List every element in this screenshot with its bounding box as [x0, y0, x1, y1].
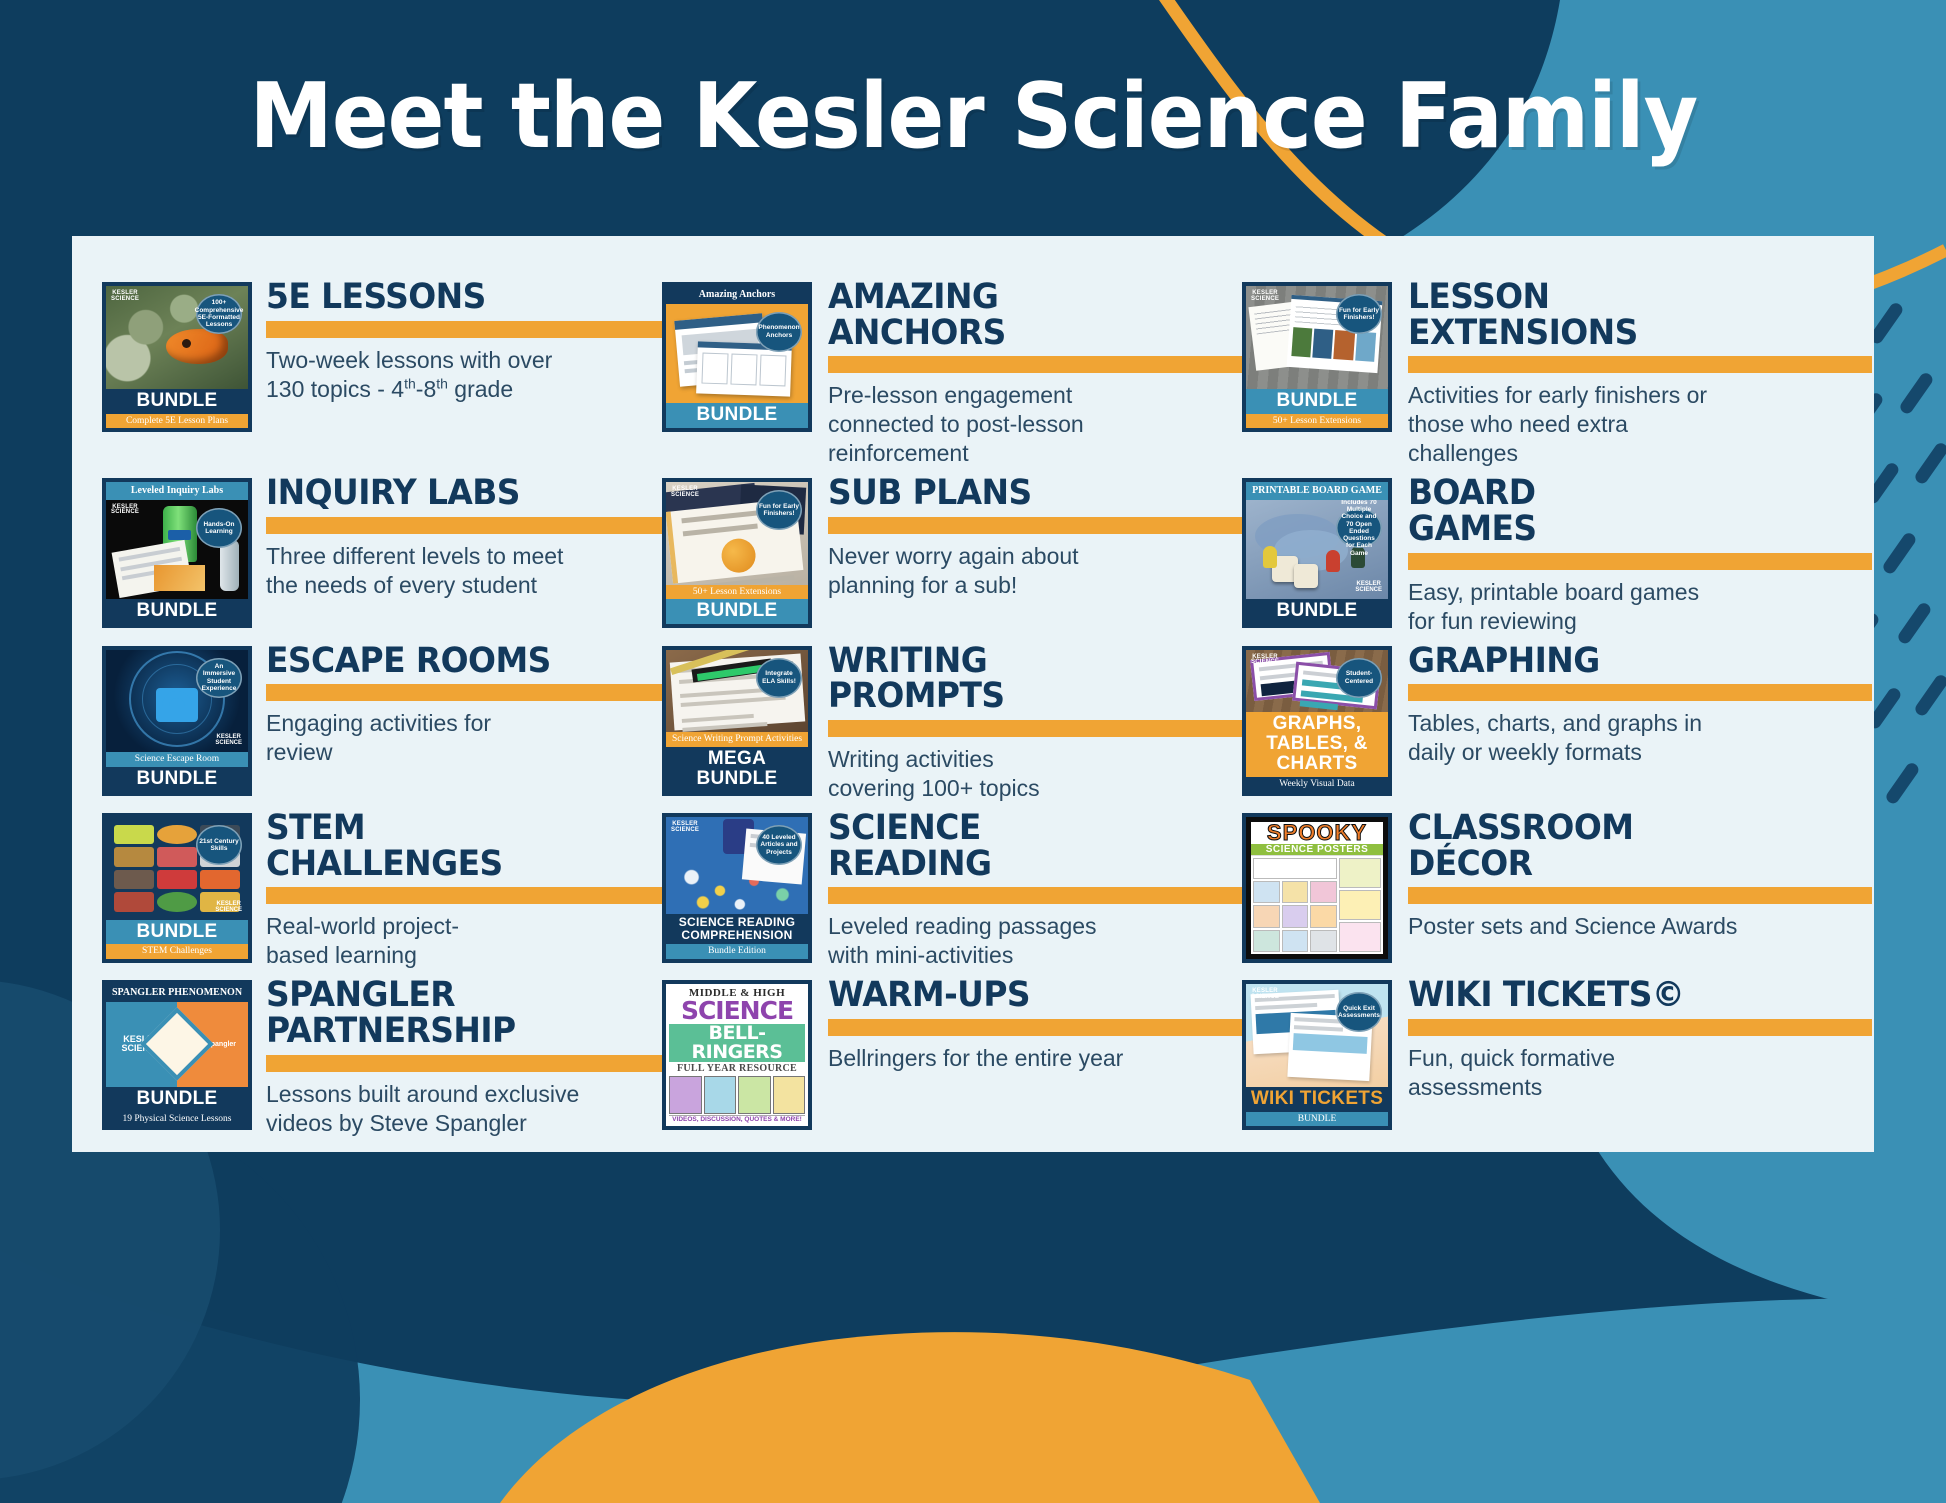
thumb-caption: BUNDLE: [106, 389, 248, 414]
product-title: WRITING PROMPTS: [828, 644, 1217, 715]
thumb-sub-label: BUNDLE: [1246, 1112, 1388, 1126]
product-thumbnail-escape-rooms[interactable]: An Immersive Student Experience KESLERSC…: [102, 646, 252, 796]
thumb-sub-label: Science Writing Prompt Activities: [666, 732, 808, 746]
product-description: Leveled reading passages with mini-activ…: [828, 912, 1242, 970]
product-text-block: SPANGLER PARTNERSHIP Lessons built aroun…: [266, 976, 662, 1137]
product-text-block: AMAZING ANCHORS Pre-lesson engagement co…: [828, 278, 1242, 468]
product-description: Activities for early finishers or those …: [1408, 381, 1872, 468]
product-card-sub-plans[interactable]: Fun for Early Finishers! KESLERSCIENCE 5…: [662, 468, 1242, 635]
kesler-science-logo-icon: KESLERSCIENCE: [215, 735, 242, 746]
orange-divider-rule: [1408, 1019, 1872, 1036]
product-text-block: WARM-UPS Bellringers for the entire year: [828, 976, 1242, 1073]
product-text-block: 5E LESSONS Two-week lessons with over130…: [266, 278, 662, 404]
content-panel: 100+ Comprehensive 5E-Formatted Lessons …: [72, 236, 1874, 1152]
page-header: Meet the Kesler Science Family: [0, 0, 1946, 232]
thumb-badge: Phenomenon Anchors: [756, 312, 802, 352]
thumb-sub-label: Weekly Visual Data: [1246, 777, 1388, 791]
product-card-writing-prompts[interactable]: Integrate ELA Skills! Science Writing Pr…: [662, 636, 1242, 803]
thumb-badge: Student-Centered: [1336, 658, 1382, 698]
product-title: WARM-UPS: [828, 978, 1217, 1014]
product-title: SUB PLANS: [828, 476, 1217, 512]
product-text-block: BOARD GAMES Easy, printable board games …: [1408, 474, 1872, 635]
bellringer-line3: BELL-RINGERS: [669, 1024, 805, 1062]
orange-divider-rule: [828, 720, 1242, 737]
product-description: Engaging activities for review: [266, 709, 662, 767]
product-thumbnail-graphing[interactable]: Student-Centered KESLERSCIENCE GRAPHS, T…: [1242, 646, 1392, 796]
thumb-artwork: Fun for Early Finishers! KESLERSCIENCE: [666, 482, 808, 585]
orange-divider-rule: [828, 517, 1242, 534]
product-description: Two-week lessons with over130 topics - 4…: [266, 346, 662, 404]
product-thumbnail-classroom-decor[interactable]: SPOOKY SCIENCE POSTERS: [1242, 813, 1392, 963]
product-description: Lessons built around exclusive videos by…: [266, 1080, 662, 1138]
product-card-warm-ups[interactable]: MIDDLE & HIGH SCIENCE BELL-RINGERS FULL …: [662, 970, 1242, 1137]
product-thumbnail-5e-lessons[interactable]: 100+ Comprehensive 5E-Formatted Lessons …: [102, 282, 252, 432]
product-description: Writing activities covering 100+ topics: [828, 745, 1242, 803]
product-title: SPANGLER PARTNERSHIP: [266, 978, 638, 1049]
thumb-artwork: 40 Leveled Articles and Projects KESLERS…: [666, 817, 808, 914]
thumb-badge: Fun for Early Finishers!: [756, 490, 802, 530]
product-title: 5E LESSONS: [266, 280, 638, 316]
thumb-badge: Includes 70 Multiple Choice and 70 Open …: [1336, 508, 1382, 548]
product-text-block: ESCAPE ROOMS Engaging activities for rev…: [266, 642, 662, 768]
product-title: STEM CHALLENGES: [266, 811, 638, 882]
thumb-caption: BUNDLE: [1246, 389, 1388, 414]
product-thumbnail-inquiry-labs[interactable]: Leveled Inquiry Labs Hands-On Learning K…: [102, 478, 252, 628]
thumb-caption: BUNDLE: [1246, 599, 1388, 624]
kesler-science-logo-icon: KESLERSCIENCE: [671, 822, 699, 833]
kesler-science-logo-icon: KESLERSCIENCE: [1251, 655, 1279, 666]
product-card-stem-challenges[interactable]: 21st Century Skills KESLERSCIENCE BUNDLE…: [102, 803, 662, 970]
product-title: ESCAPE ROOMS: [266, 644, 638, 680]
orange-divider-rule: [1408, 887, 1872, 904]
product-text-block: CLASSROOM DÉCOR Poster sets and Science …: [1408, 809, 1872, 941]
product-thumbnail-board-games[interactable]: PRINTABLE BOARD GAME Includes 70 Multipl…: [1242, 478, 1392, 628]
product-description: Tables, charts, and graphs in daily or w…: [1408, 709, 1872, 767]
orange-divider-rule: [1408, 553, 1872, 570]
thumb-top-label: SPANGLER PHENOMENON: [106, 984, 248, 1002]
orange-divider-rule: [828, 1019, 1242, 1036]
thumb-artwork: An Immersive Student Experience KESLERSC…: [106, 650, 248, 753]
thumb-sub-label: Complete 5E Lesson Plans: [106, 414, 248, 428]
kesler-science-logo-icon: KESLERSCIENCE: [111, 291, 139, 302]
thumb-sub-label: 50+ Lesson Extensions: [666, 585, 808, 599]
thumb-sub-label: STEM Challenges: [106, 944, 248, 958]
thumb-artwork: Integrate ELA Skills!: [666, 650, 808, 733]
product-description: Fun, quick formative assessments: [1408, 1044, 1872, 1102]
thumb-artwork: Student-Centered KESLERSCIENCE: [1246, 650, 1388, 713]
thumb-caption: BUNDLE: [106, 767, 248, 792]
orange-divider-rule: [1408, 356, 1872, 373]
product-title: GRAPHING: [1408, 644, 1844, 680]
bellringer-line5: VIDEOS, DISCUSSION, QUOTES & MORE!: [669, 1115, 805, 1123]
product-thumbnail-spangler-partnership[interactable]: SPANGLER PHENOMENON KESLERSCIENCE steves…: [102, 980, 252, 1130]
kesler-science-logo-icon: KESLERSCIENCE: [111, 505, 139, 516]
product-card-inquiry-labs[interactable]: Leveled Inquiry Labs Hands-On Learning K…: [102, 468, 662, 635]
thumb-badge: Quick Exit Assessments: [1336, 992, 1382, 1032]
product-card-amazing-anchors[interactable]: Amazing Anchors Phenomenon Anchors: [662, 272, 1242, 468]
product-thumbnail-warm-ups[interactable]: MIDDLE & HIGH SCIENCE BELL-RINGERS FULL …: [662, 980, 812, 1130]
thumb-top-label: Leveled Inquiry Labs: [106, 482, 248, 500]
product-text-block: GRAPHING Tables, charts, and graphs in d…: [1408, 642, 1872, 768]
thumb-artwork: Phenomenon Anchors: [666, 304, 808, 404]
product-card-board-games[interactable]: PRINTABLE BOARD GAME Includes 70 Multipl…: [1242, 468, 1872, 635]
product-title: SCIENCE READING: [828, 811, 1217, 882]
kesler-science-logo-icon: KESLERSCIENCE: [1251, 291, 1279, 302]
thumb-caption: BUNDLE: [106, 920, 248, 945]
product-card-5e-lessons[interactable]: 100+ Comprehensive 5E-Formatted Lessons …: [102, 272, 662, 468]
product-description: Real-world project- based learning: [266, 912, 662, 970]
product-thumbnail-wiki-tickets[interactable]: Quick Exit Assessments KESLERSCIENCE WIK…: [1242, 980, 1392, 1130]
thumb-caption: BUNDLE: [666, 403, 808, 428]
product-text-block: WRITING PROMPTS Writing activities cover…: [828, 642, 1242, 803]
thumb-badge: An Immersive Student Experience: [196, 658, 242, 698]
thumb-badge: 40 Leveled Articles and Projects: [756, 825, 802, 865]
thumb-artwork: SPOOKY SCIENCE POSTERS: [1246, 817, 1388, 959]
thumb-sub-label: 50+ Lesson Extensions: [1246, 414, 1388, 428]
thumb-badge: Fun for Early Finishers!: [1336, 294, 1382, 334]
thumb-sub-label: 19 Physical Science Lessons: [106, 1112, 248, 1126]
product-card-spangler-partnership[interactable]: SPANGLER PHENOMENON KESLERSCIENCE steves…: [102, 970, 662, 1137]
orange-divider-rule: [266, 1055, 662, 1072]
spooky-sub-text: SCIENCE POSTERS: [1251, 844, 1383, 855]
thumb-artwork: KESLERSCIENCE stevespangler: [106, 1002, 248, 1087]
kesler-science-logo-icon: KESLERSCIENCE: [671, 487, 699, 498]
thumb-caption: SCIENCE READING COMPREHENSION: [666, 914, 808, 944]
product-text-block: STEM CHALLENGES Real-world project- base…: [266, 809, 662, 970]
product-description: Poster sets and Science Awards: [1408, 912, 1872, 941]
thumb-caption: BUNDLE: [106, 1087, 248, 1112]
orange-divider-rule: [266, 517, 662, 534]
product-thumbnail-lesson-extensions[interactable]: Fun for Early Finishers! KESLERSCIENCE B…: [1242, 282, 1392, 432]
orange-divider-rule: [266, 887, 662, 904]
product-text-block: SCIENCE READING Leveled reading passages…: [828, 809, 1242, 970]
orange-divider-rule: [266, 684, 662, 701]
product-title: BOARD GAMES: [1408, 476, 1844, 547]
product-title: LESSON EXTENSIONS: [1408, 280, 1844, 351]
orange-divider-rule: [1408, 684, 1872, 701]
thumb-badge: 21st Century Skills: [196, 825, 242, 865]
thumb-artwork: 21st Century Skills KESLERSCIENCE: [106, 817, 248, 920]
kesler-science-logo-icon: KESLERSCIENCE: [1355, 582, 1382, 593]
thumb-artwork: Hands-On Learning KESLERSCIENCE: [106, 500, 248, 600]
product-title: WIKI TICKETS©: [1408, 978, 1844, 1014]
thumb-artwork: Quick Exit Assessments KESLERSCIENCE: [1246, 984, 1388, 1087]
product-description: Bellringers for the entire year: [828, 1044, 1242, 1073]
thumb-caption: WIKI TICKETS: [1246, 1087, 1388, 1112]
product-card-escape-rooms[interactable]: An Immersive Student Experience KESLERSC…: [102, 636, 662, 803]
spooky-title-text: SPOOKY: [1267, 822, 1367, 844]
orange-divider-rule: [828, 887, 1242, 904]
orange-divider-rule: [828, 356, 1242, 373]
product-thumbnail-science-reading[interactable]: 40 Leveled Articles and Projects KESLERS…: [662, 813, 812, 963]
product-description: Never worry again about planning for a s…: [828, 542, 1242, 600]
product-card-wiki-tickets[interactable]: Quick Exit Assessments KESLERSCIENCE WIK…: [1242, 970, 1872, 1137]
thumb-top-label: Amazing Anchors: [666, 286, 808, 304]
product-card-classroom-decor[interactable]: SPOOKY SCIENCE POSTERS: [1242, 803, 1872, 970]
kesler-science-logo-icon: KESLERSCIENCE: [1251, 989, 1279, 1000]
thumb-sub-label: Science Escape Room: [106, 752, 248, 766]
product-title: AMAZING ANCHORS: [828, 280, 1217, 351]
thumb-badge: Integrate ELA Skills!: [756, 658, 802, 698]
thumb-artwork: 100+ Comprehensive 5E-Formatted Lessons …: [106, 286, 248, 389]
product-title: INQUIRY LABS: [266, 476, 638, 512]
thumb-badge: Hands-On Learning: [196, 508, 242, 548]
product-card-graphing[interactable]: Student-Centered KESLERSCIENCE GRAPHS, T…: [1242, 636, 1872, 803]
thumb-caption: GRAPHS, TABLES, & CHARTS: [1246, 712, 1388, 777]
product-thumbnail-stem-challenges[interactable]: 21st Century Skills KESLERSCIENCE BUNDLE…: [102, 813, 252, 963]
product-thumbnail-writing-prompts[interactable]: Integrate ELA Skills! Science Writing Pr…: [662, 646, 812, 796]
thumb-caption: BUNDLE: [106, 599, 248, 624]
product-text-block: WIKI TICKETS© Fun, quick formative asses…: [1408, 976, 1872, 1102]
page-title: Meet the Kesler Science Family: [249, 64, 1697, 169]
product-text-block: INQUIRY LABS Three different levels to m…: [266, 474, 662, 600]
product-thumbnail-sub-plans[interactable]: Fun for Early Finishers! KESLERSCIENCE 5…: [662, 478, 812, 628]
thumb-caption: MEGA BUNDLE: [666, 747, 808, 792]
bellringer-line4: FULL YEAR RESOURCE: [669, 1063, 805, 1074]
product-description: Easy, printable board games for fun revi…: [1408, 578, 1872, 636]
bellringer-line2: SCIENCE: [669, 1000, 805, 1023]
product-text-block: LESSON EXTENSIONS Activities for early f…: [1408, 278, 1872, 468]
product-grid: 100+ Comprehensive 5E-Formatted Lessons …: [102, 272, 1844, 1130]
product-title: CLASSROOM DÉCOR: [1408, 811, 1844, 882]
thumb-sub-label: Bundle Edition: [666, 944, 808, 958]
kesler-science-logo-icon: KESLERSCIENCE: [215, 902, 242, 913]
product-thumbnail-amazing-anchors[interactable]: Amazing Anchors Phenomenon Anchors: [662, 282, 812, 432]
thumb-artwork: MIDDLE & HIGH SCIENCE BELL-RINGERS FULL …: [666, 984, 808, 1126]
product-description: Pre-lesson engagement connected to post-…: [828, 381, 1242, 468]
product-card-lesson-extensions[interactable]: Fun for Early Finishers! KESLERSCIENCE B…: [1242, 272, 1872, 468]
orange-divider-rule: [266, 321, 662, 338]
product-description: Three different levels to meet the needs…: [266, 542, 662, 600]
thumb-top-label: PRINTABLE BOARD GAME: [1246, 482, 1388, 500]
thumb-badge: 100+ Comprehensive 5E-Formatted Lessons: [196, 294, 242, 334]
product-text-block: SUB PLANS Never worry again about planni…: [828, 474, 1242, 600]
thumb-caption: BUNDLE: [666, 599, 808, 624]
product-card-science-reading[interactable]: 40 Leveled Articles and Projects KESLERS…: [662, 803, 1242, 970]
thumb-artwork: Fun for Early Finishers! KESLERSCIENCE: [1246, 286, 1388, 389]
thumb-artwork: Includes 70 Multiple Choice and 70 Open …: [1246, 500, 1388, 600]
